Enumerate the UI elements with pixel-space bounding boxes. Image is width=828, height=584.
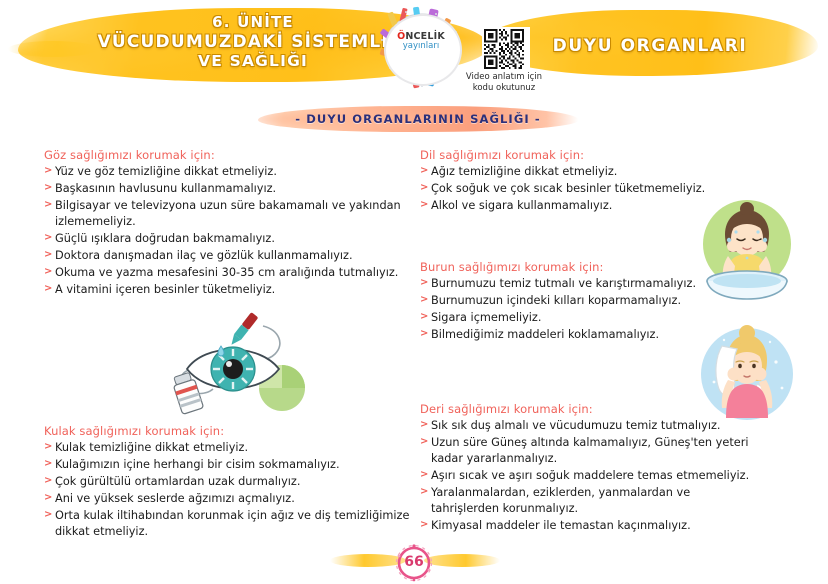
list-item: Sigara içmemeliyiz. <box>420 310 720 326</box>
list-item: Okuma ve yazma mesafesini 30-35 cm aralı… <box>44 265 410 281</box>
banner-title: - DUYU ORGANLARININ SAĞLIĞI - <box>258 112 578 126</box>
list-item: Bilgisayar ve televizyona uzun süre baka… <box>44 198 410 230</box>
qr-code[interactable] <box>482 27 530 75</box>
section-heading-nose: Burun sağlığımızı korumak için: <box>420 260 720 274</box>
drying-face-illustration <box>694 322 800 434</box>
list-item: Uzun süre Güneş altında kalmamalıyız, Gü… <box>420 435 750 467</box>
eye-drops-illustration <box>145 312 320 417</box>
topic-title: DUYU ORGANLARI <box>500 36 800 56</box>
skin-health-list: Sık sık duş almalı ve vücudumuzu temiz t… <box>420 418 750 534</box>
list-item: Burnumuzu temiz tutmalı ve karıştırmamal… <box>420 276 720 292</box>
list-item: Kulak temizliğine dikkat etmeliyiz. <box>44 440 410 456</box>
list-item: Ağız temizliğine dikkat etmeliyiz. <box>420 164 740 180</box>
section-heading-tongue: Dil sağlığımızı korumak için: <box>420 148 740 162</box>
list-item: Ani ve yüksek seslerde ağzımızı açmalıyı… <box>44 491 410 507</box>
page-header: 6. ÜNİTE VÜCUDUMUZDAKİ SİSTEMLER VE SAĞL… <box>0 0 828 100</box>
woman-drying-face-icon <box>694 322 800 434</box>
list-item: Güçlü ışıklara doğrudan bakmamalıyız. <box>44 231 410 247</box>
qr-caption-line1: Video anlatım için <box>452 72 556 83</box>
list-item: Burnumuzun içindeki kılları koparmamalıy… <box>420 293 720 309</box>
section-tongue-health: Dil sağlığımızı korumak için: Ağız temiz… <box>420 148 740 215</box>
ear-health-list: Kulak temizliğine dikkat etmeliyiz. Kula… <box>44 440 410 540</box>
list-item: Çok soğuk ve çok sıcak besinler tüketmem… <box>420 181 740 197</box>
worksheet-page: 6. ÜNİTE VÜCUDUMUZDAKİ SİSTEMLER VE SAĞL… <box>0 0 828 584</box>
list-item: Yaralanmalardan, eziklerden, yanmalardan… <box>420 485 750 517</box>
section-eye-health: Göz sağlığımızı korumak için: Yüz ve göz… <box>44 148 410 299</box>
section-nose-health: Burun sağlığımızı korumak için: Burnumuz… <box>420 260 720 344</box>
section-heading-ear: Kulak sağlığımızı korumak için: <box>44 424 410 438</box>
qr-caption-line2: kodu okutunuz <box>452 83 556 94</box>
list-item: Başkasının havlusunu kullanmamalıyız. <box>44 181 410 197</box>
nose-health-list: Burnumuzu temiz tutmalı ve karıştırmamal… <box>420 276 720 343</box>
list-item: Kulağımızın içine herhangi bir cisim sok… <box>44 457 410 473</box>
list-item: Doktora danışmadan ilaç ve gözlük kullan… <box>44 248 410 264</box>
qr-caption: Video anlatım için kodu okutunuz <box>452 72 556 95</box>
section-ear-health: Kulak sağlığımızı korumak için: Kulak te… <box>44 424 410 541</box>
page-footer: 66 <box>0 542 828 584</box>
eye-with-dropper-icon <box>145 312 320 417</box>
eye-health-list: Yüz ve göz temizliğine dikkat etmeliyiz.… <box>44 164 410 298</box>
footer-brush-right <box>424 554 500 567</box>
page-number: 66 <box>394 554 434 570</box>
list-item: Aşırı sıcak ve aşırı soğuk maddelere tem… <box>420 468 750 484</box>
list-item: Orta kulak iltihabından korunmak için ağ… <box>44 508 410 540</box>
list-item: Bilmediğimiz maddeleri koklamamalıyız. <box>420 327 720 343</box>
washing-face-illustration <box>694 196 800 306</box>
qr-code-icon <box>484 29 524 69</box>
list-item: Çok gürültülü ortamlardan uzak durmalıyı… <box>44 474 410 490</box>
section-heading-eye: Göz sağlığımızı korumak için: <box>44 148 410 162</box>
logo-text: ÖNCELİK yayınları <box>384 32 458 51</box>
logo-brand-sub: yayınları <box>384 42 458 51</box>
girl-washing-face-icon <box>694 196 800 306</box>
list-item: Kimyasal maddeler ile temastan kaçınmalı… <box>420 518 750 534</box>
section-banner: - DUYU ORGANLARININ SAĞLIĞI - <box>258 104 578 136</box>
list-item: A vitamini içeren besinler tüketmeliyiz. <box>44 282 410 298</box>
list-item: Yüz ve göz temizliğine dikkat etmeliyiz. <box>44 164 410 180</box>
tongue-health-list: Ağız temizliğine dikkat etmeliyiz. Çok s… <box>420 164 740 214</box>
list-item: Alkol ve sigara kullanmamalıyız. <box>420 198 740 214</box>
